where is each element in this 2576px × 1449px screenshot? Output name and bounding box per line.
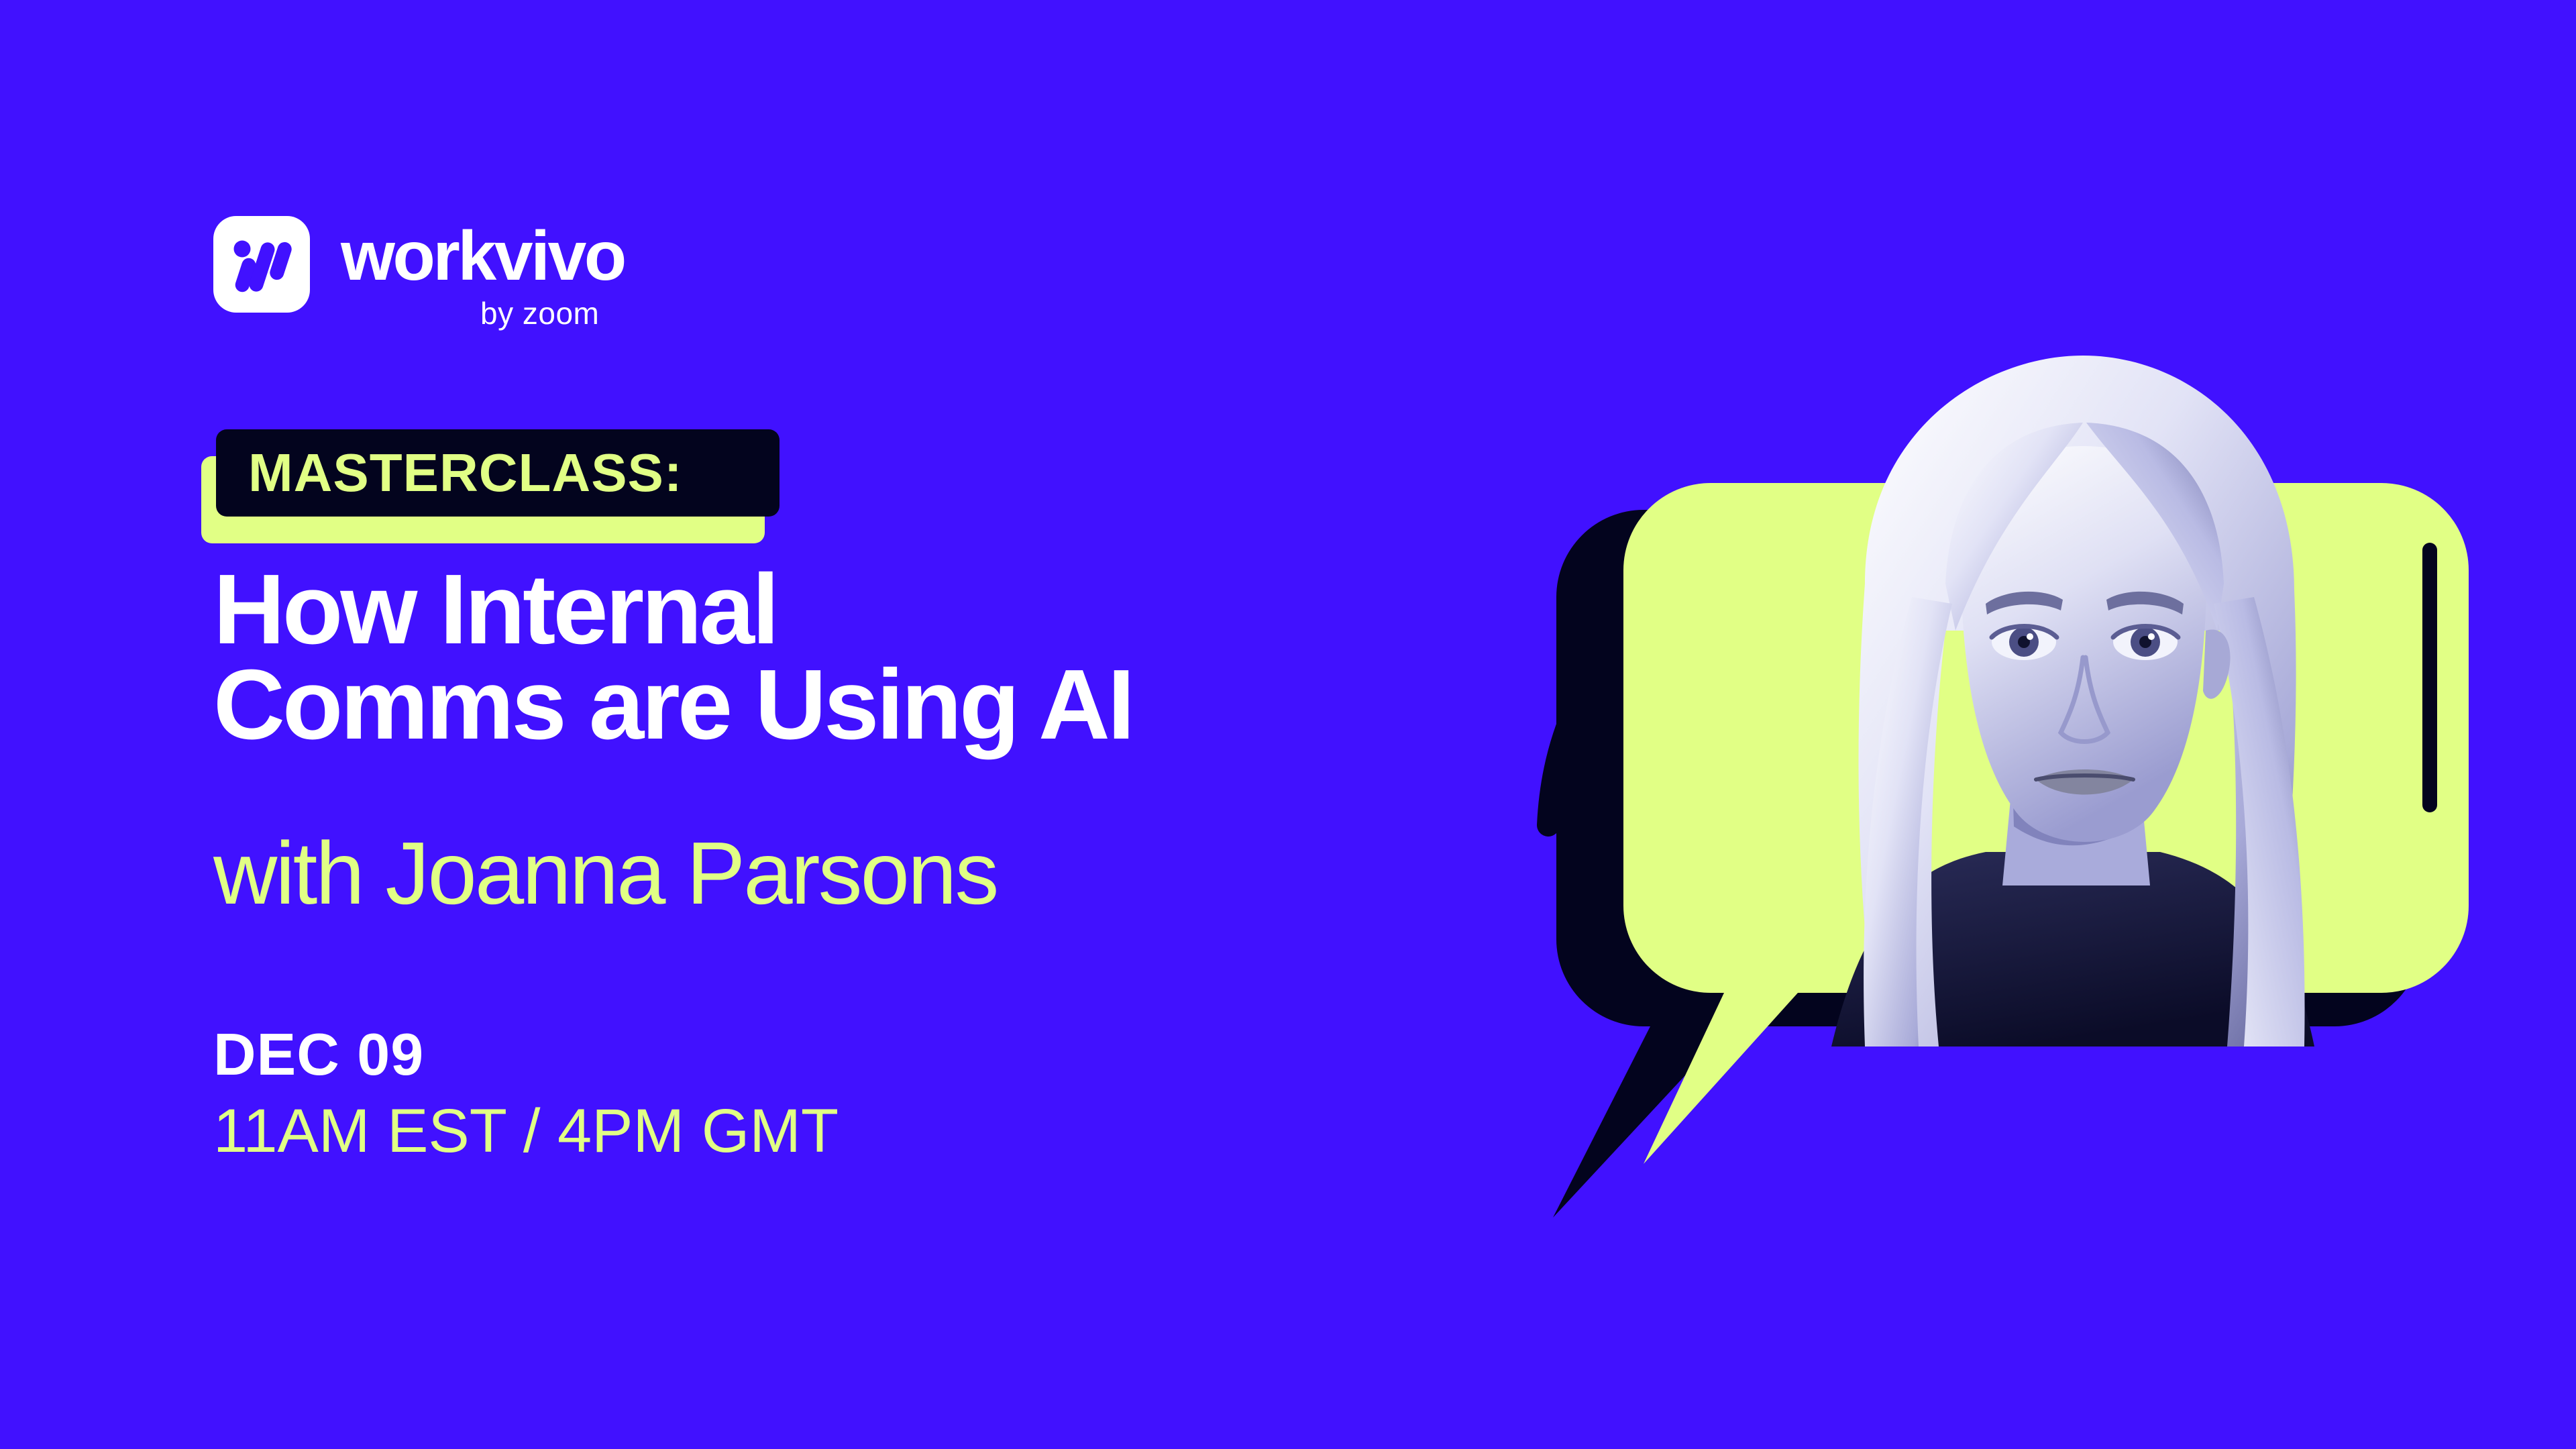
event-date: DEC 09 [213, 1025, 424, 1084]
workvivo-logo-icon [213, 216, 310, 313]
speaker-artwork [1516, 315, 2469, 1268]
masterclass-badge: MASTERCLASS: [201, 429, 805, 563]
badge-label: MASTERCLASS: [216, 429, 780, 517]
promo-banner: workvivo by zoom MASTERCLASS: How Intern… [0, 0, 2576, 1449]
speaker-portrait [1831, 356, 2314, 1046]
headline-line-2: Comms are Using AI [213, 657, 1488, 753]
brand-byline: by zoom [480, 298, 599, 329]
event-time: 11AM EST / 4PM GMT [213, 1100, 839, 1162]
headline-subtitle: with Joanna Parsons [213, 829, 1488, 918]
brand-logo-lockup[interactable]: workvivo by zoom [213, 216, 683, 337]
brand-wordmark: workvivo [341, 221, 625, 291]
headline-line-1: How Internal [213, 562, 1488, 657]
page-title: How Internal Comms are Using AI [213, 562, 1488, 753]
